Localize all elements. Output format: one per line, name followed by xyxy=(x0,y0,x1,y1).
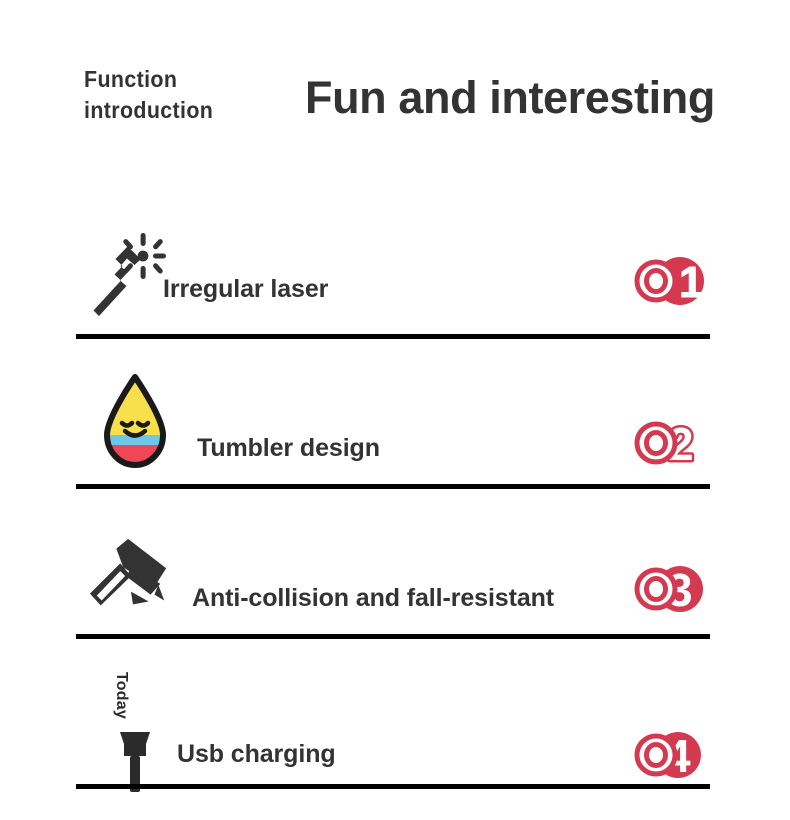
eyebrow-title: Function introduction xyxy=(84,64,284,126)
row-divider xyxy=(76,334,710,339)
eyebrow-line-1: Function xyxy=(84,64,284,95)
feature-label: Tumbler design xyxy=(197,434,380,463)
today-label: Today xyxy=(112,672,130,719)
feature-row: Anti-collision and fall-resistant 3 xyxy=(0,522,790,672)
feature-label: Usb charging xyxy=(177,740,336,769)
status-badge: 3 xyxy=(634,564,712,614)
hammer-icon xyxy=(88,530,174,626)
feature-label: Anti-collision and fall-resistant xyxy=(192,584,554,613)
tumbler-drop-icon xyxy=(92,374,178,470)
badge-digit: 1 xyxy=(679,258,703,307)
row-divider xyxy=(76,634,710,639)
feature-row: Tumbler design 2 xyxy=(0,372,790,522)
feature-row: Irregular laser 1 xyxy=(0,222,790,372)
feature-label: Irregular laser xyxy=(163,275,328,304)
feature-list: Irregular laser 1 xyxy=(0,222,790,820)
page-header: Function introduction Fun and interestin… xyxy=(0,0,790,160)
usb-plug-icon: Today xyxy=(92,664,178,794)
row-divider xyxy=(76,484,710,489)
eyebrow-line-2: introduction xyxy=(84,95,284,126)
status-badge: 1 xyxy=(634,256,712,306)
row-divider xyxy=(76,784,710,789)
page-title: Fun and interesting xyxy=(305,70,715,126)
feature-row: Today Usb charging 4 xyxy=(0,672,790,820)
function-introduction-page: Function introduction Fun and interestin… xyxy=(0,0,790,820)
status-badge: 4 xyxy=(634,730,712,780)
status-badge: 2 xyxy=(634,418,712,468)
